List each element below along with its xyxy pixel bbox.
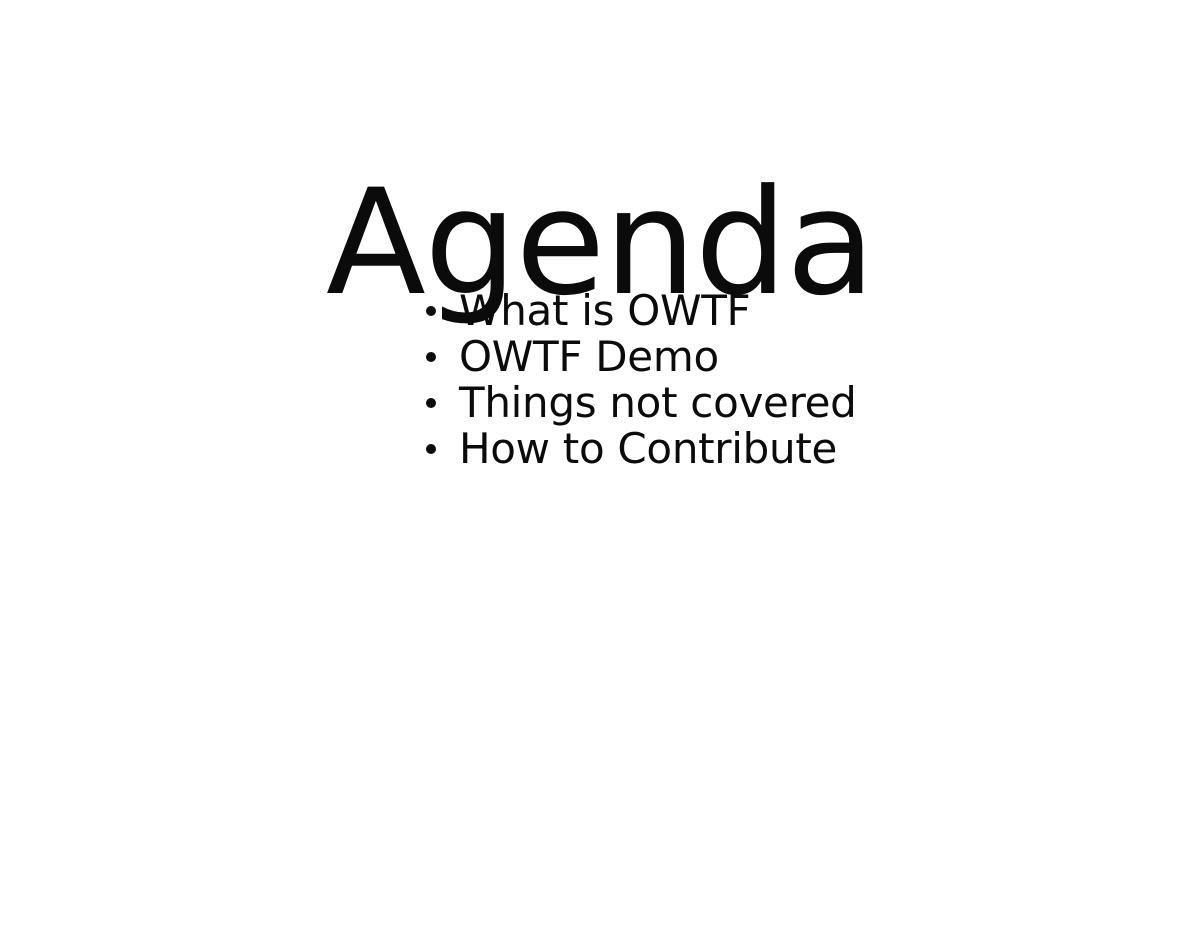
list-item-label: What is OWTF [459,288,750,334]
presentation-slide: Agenda What is OWTF OWTF Demo Things not… [0,0,1200,928]
bullet-point-icon [426,306,436,316]
agenda-list: What is OWTF OWTF Demo Things not covere… [421,288,1121,472]
bullet-point-icon [426,352,436,362]
list-item-label: Things not covered [459,380,857,426]
list-item-label: How to Contribute [459,426,837,472]
list-item: Things not covered [421,380,1121,426]
list-item: What is OWTF [421,288,1121,334]
list-item: How to Contribute [421,426,1121,472]
list-item: OWTF Demo [421,334,1121,380]
bullet-point-icon [426,444,436,454]
bullet-point-icon [426,398,436,408]
list-item-label: OWTF Demo [459,334,719,380]
